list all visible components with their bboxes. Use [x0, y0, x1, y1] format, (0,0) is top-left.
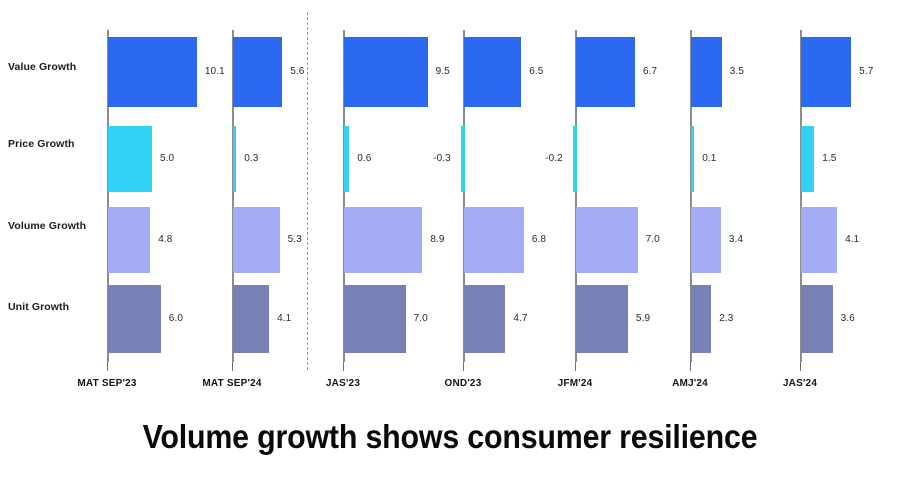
- bar-value-label: 0.1: [702, 153, 716, 164]
- row-label-value-growth: Value Growth: [8, 62, 103, 73]
- bar-value: [108, 37, 197, 107]
- row-label-price-growth: Price Growth: [8, 139, 103, 150]
- bar-value: [801, 37, 851, 107]
- axis-tick: [343, 362, 345, 371]
- category-label: MAT SEP'24: [202, 378, 261, 389]
- bar-price: [573, 126, 576, 192]
- row-label-volume-growth: Volume Growth: [8, 221, 103, 232]
- bar-volume: [801, 207, 837, 273]
- bar-price: [233, 126, 236, 192]
- bar-value-label: 4.1: [845, 234, 859, 245]
- bar-value-label: 1.5: [822, 153, 836, 164]
- bar-value-label: 7.0: [646, 234, 660, 245]
- bar-value-label: 4.1: [277, 313, 291, 324]
- bar-value-label: 4.8: [158, 234, 172, 245]
- bar-value-label: 5.7: [859, 66, 873, 77]
- bar-price: [801, 126, 814, 192]
- bar-value-label: 5.9: [636, 313, 650, 324]
- bar-price: [461, 126, 464, 192]
- bar-value-label: 9.5: [436, 66, 450, 77]
- axis-tick: [800, 362, 802, 371]
- bar-unit: [464, 285, 505, 353]
- bar-unit: [801, 285, 833, 353]
- axis-tick: [575, 362, 577, 371]
- bar-volume: [233, 207, 280, 273]
- bar-price: [691, 126, 694, 192]
- bar-value-label: 2.3: [719, 313, 733, 324]
- bar-value-label: -0.2: [545, 153, 563, 164]
- bar-volume: [576, 207, 638, 273]
- axis-tick: [690, 362, 692, 371]
- bar-unit: [233, 285, 269, 353]
- bar-value: [233, 37, 282, 107]
- bar-value-label: 5.3: [288, 234, 302, 245]
- bar-unit: [108, 285, 161, 353]
- bar-value: [464, 37, 521, 107]
- bar-unit: [691, 285, 711, 353]
- category-label: OND'23: [445, 378, 482, 389]
- bar-value-label: 6.5: [529, 66, 543, 77]
- bar-value-label: 6.0: [169, 313, 183, 324]
- bar-value: [576, 37, 635, 107]
- bar-volume: [464, 207, 524, 273]
- bar-value-label: 3.4: [729, 234, 743, 245]
- bar-volume: [344, 207, 422, 273]
- category-label: AMJ'24: [672, 378, 708, 389]
- bar-value-label: 5.0: [160, 153, 174, 164]
- bar-price: [108, 126, 152, 192]
- bar-value-label: 8.9: [430, 234, 444, 245]
- chart-canvas: Value Growth Price Growth Volume Growth …: [0, 0, 900, 495]
- bar-value-label: 0.6: [357, 153, 371, 164]
- category-label: JAS'24: [783, 378, 817, 389]
- bar-value: [691, 37, 722, 107]
- bar-value-label: -0.3: [433, 153, 451, 164]
- bar-value-label: 10.1: [205, 66, 225, 77]
- bar-value-label: 3.5: [730, 66, 744, 77]
- bar-value-label: 6.8: [532, 234, 546, 245]
- bar-value: [344, 37, 428, 107]
- category-label: MAT SEP'23: [77, 378, 136, 389]
- bar-unit: [576, 285, 628, 353]
- axis-tick: [463, 362, 465, 371]
- category-label: JAS'23: [326, 378, 360, 389]
- bar-volume: [108, 207, 150, 273]
- panel-divider: [307, 12, 308, 370]
- bar-value-label: 6.7: [643, 66, 657, 77]
- bar-value-label: 0.3: [244, 153, 258, 164]
- bar-price: [344, 126, 349, 192]
- bar-value-label: 3.6: [841, 313, 855, 324]
- chart-caption: Volume growth shows consumer resilience: [36, 418, 864, 456]
- row-label-unit-growth: Unit Growth: [8, 302, 103, 313]
- bar-value-label: 5.6: [290, 66, 304, 77]
- category-label: JFM'24: [558, 378, 593, 389]
- bar-volume: [691, 207, 721, 273]
- bar-unit: [344, 285, 406, 353]
- bar-value-label: 4.7: [513, 313, 527, 324]
- axis-tick: [232, 362, 234, 371]
- axis-tick: [107, 362, 109, 371]
- bar-value-label: 7.0: [414, 313, 428, 324]
